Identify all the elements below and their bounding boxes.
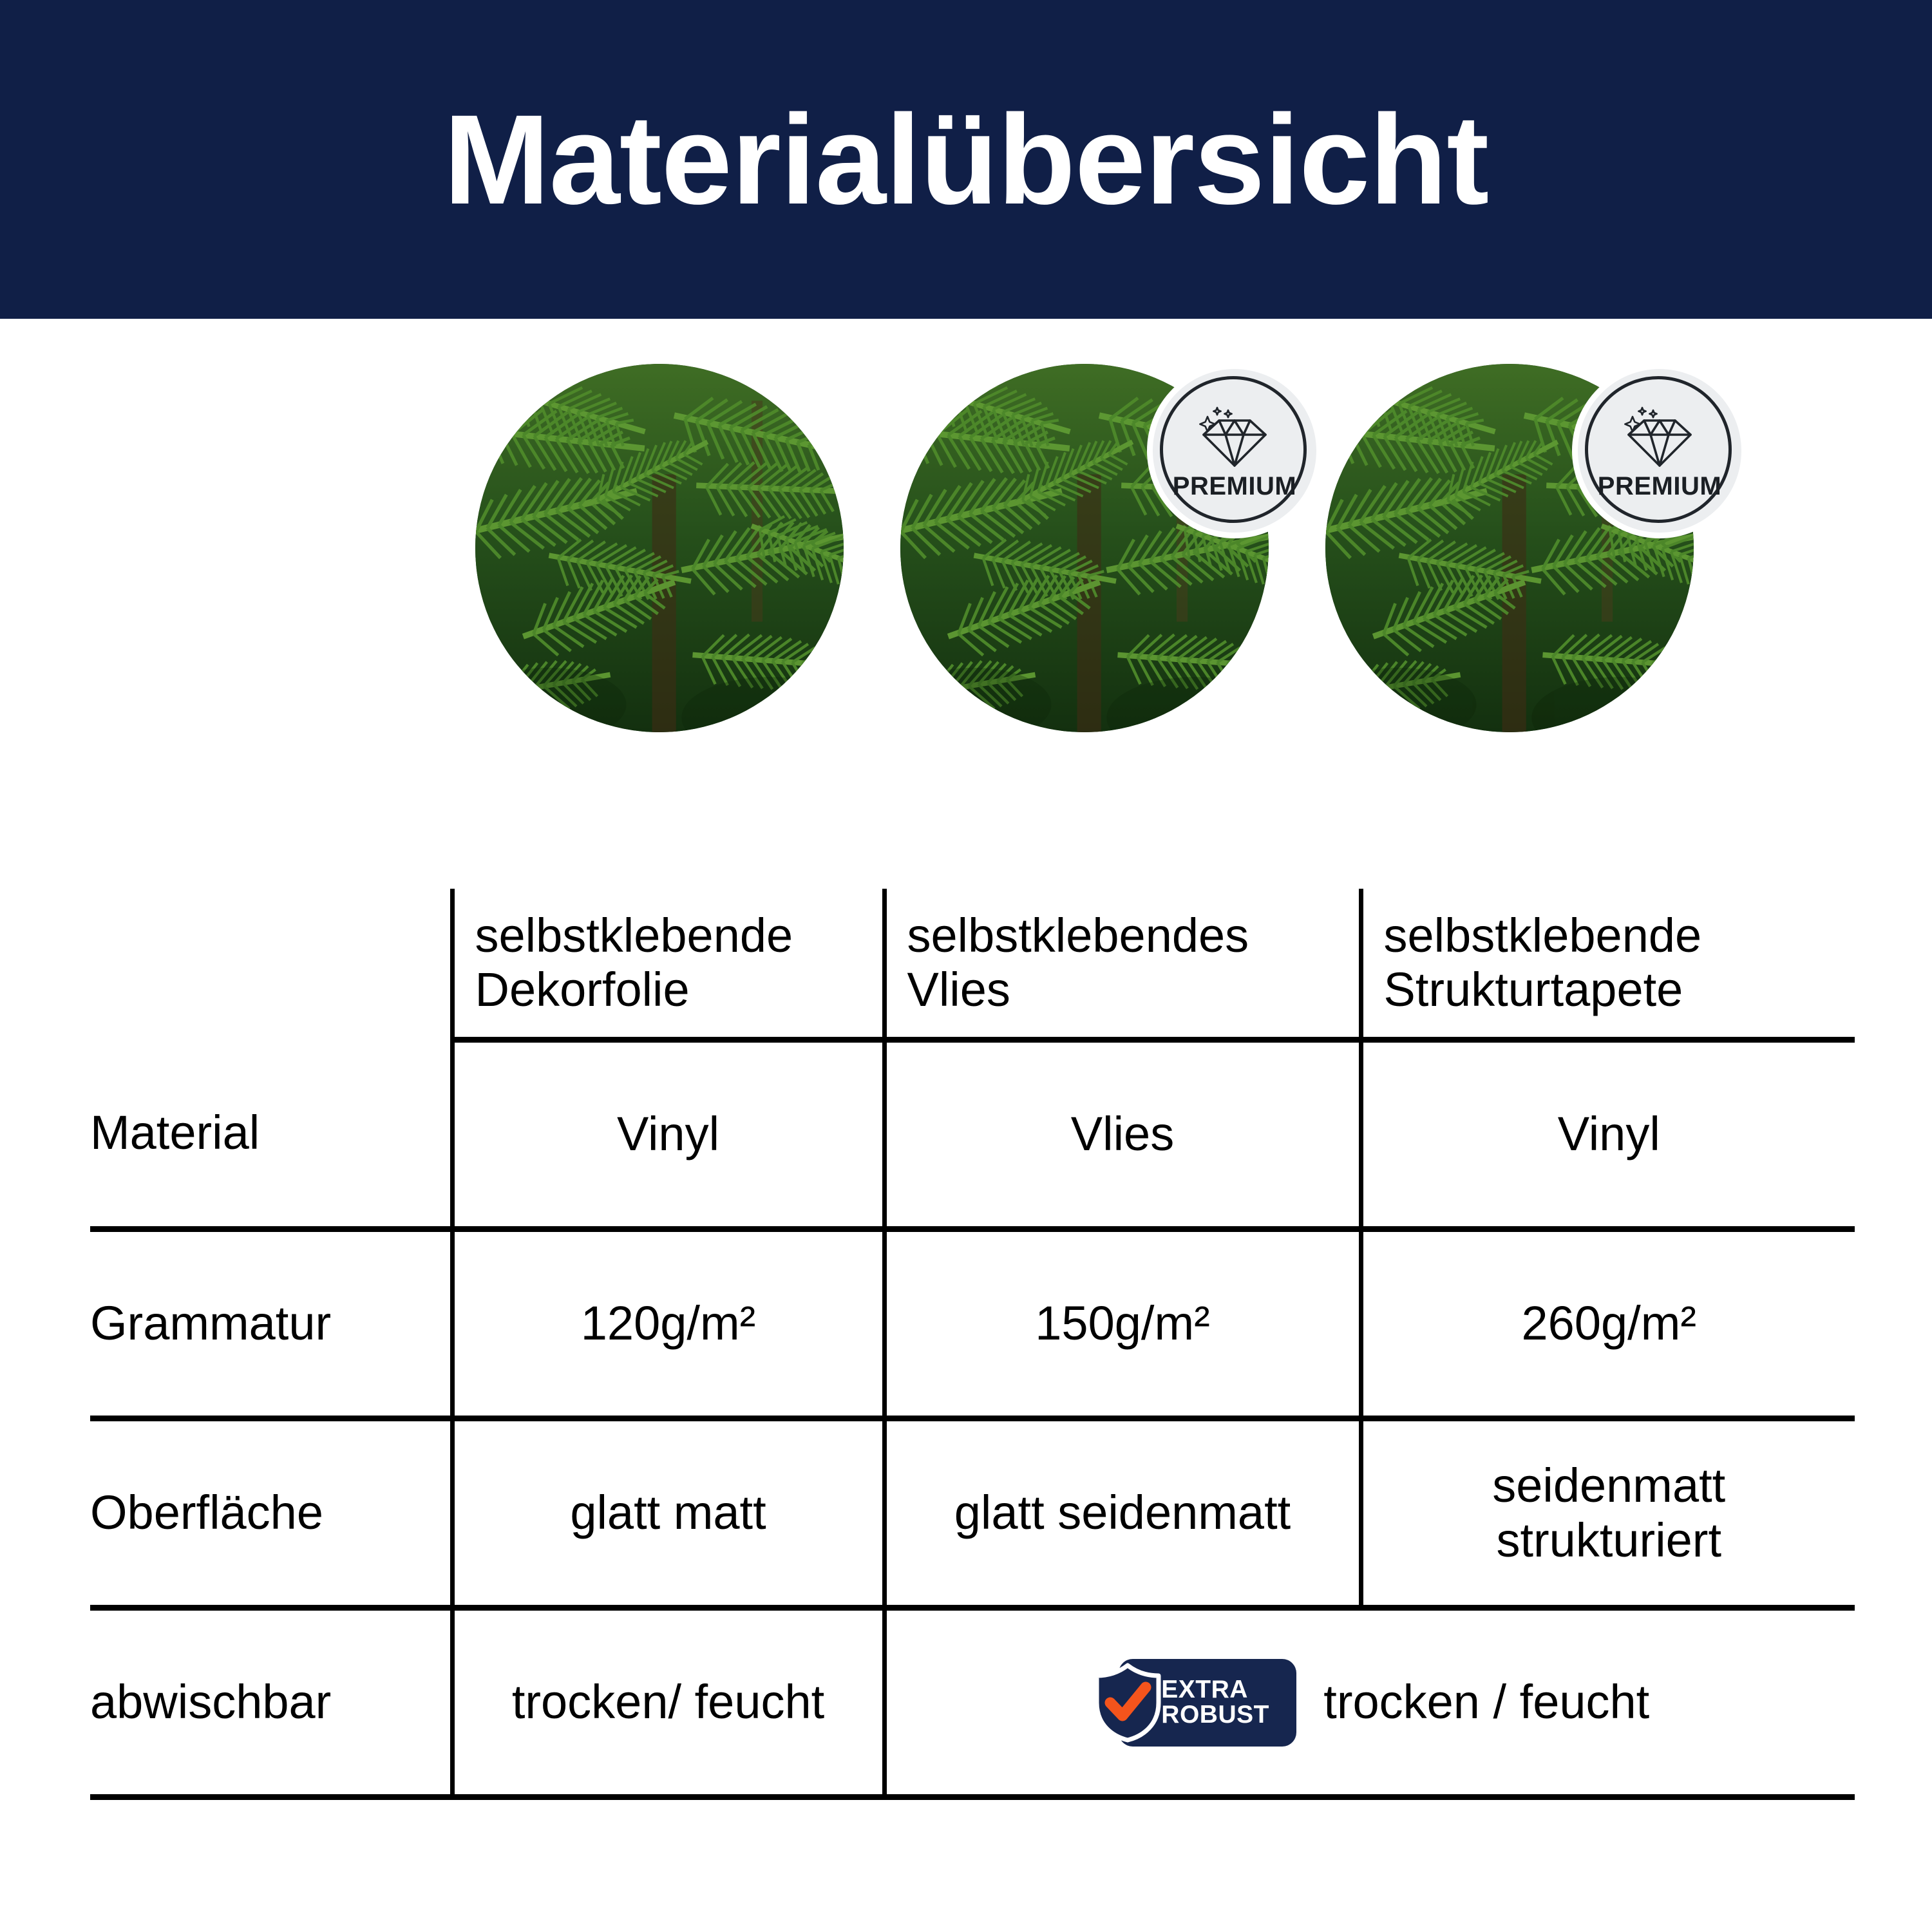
premium-badge-label: PREMIUM [1598, 473, 1721, 499]
swatch-dekorfolie[interactable] [475, 364, 844, 732]
jungle-image [475, 364, 844, 732]
row-label-abwischbar: abwischbar [90, 1608, 452, 1797]
swatch-strukturtapete[interactable]: PREMIUM [1325, 364, 1694, 732]
page-title: Materialübersicht [444, 96, 1489, 223]
swatch-vlies[interactable]: PREMIUM [900, 364, 1269, 732]
table-header-row: selbstklebende Dekorfolie selbstklebende… [90, 889, 1855, 1040]
table-row: Oberfläche glatt matt glatt seidenmatt s… [90, 1419, 1855, 1608]
shield-check-icon [1092, 1663, 1164, 1743]
premium-badge: PREMIUM [1578, 369, 1741, 533]
cell-abwischbar-text: trocken / feucht [1323, 1675, 1649, 1729]
cell-material-vlies: Vlies [884, 1040, 1361, 1229]
page-header: Materialübersicht [0, 0, 1932, 319]
cell-oberflaeche-dekorfolie: glatt matt [452, 1419, 884, 1608]
table-row: Material Vinyl Vlies Vinyl [90, 1040, 1855, 1229]
material-swatch-row: PREMIUM [0, 361, 1932, 741]
row-label-material: Material [90, 1040, 452, 1229]
premium-badge: PREMIUM [1153, 369, 1316, 533]
cell-oberflaeche-vlies: glatt seidenmatt [884, 1419, 1361, 1608]
cell-grammatur-dekorfolie: 120g/m² [452, 1229, 884, 1419]
material-spec-table: selbstklebende Dekorfolie selbstklebende… [90, 889, 1855, 1800]
cell-oberflaeche-strukturtapete: seidenmatt strukturiert [1361, 1419, 1855, 1608]
extra-robust-line1: EXTRA [1161, 1677, 1269, 1703]
header-cell-strukturtapete: selbstklebende Strukturtapete [1361, 889, 1855, 1040]
extra-robust-label: EXTRA ROBUST [1161, 1677, 1269, 1728]
diamond-icon [1620, 406, 1700, 468]
diamond-icon [1195, 406, 1274, 468]
extra-robust-line2: ROBUST [1161, 1703, 1269, 1728]
cell-material-dekorfolie: Vinyl [452, 1040, 884, 1229]
header-cell-vlies: selbstklebendes Vlies [884, 889, 1361, 1040]
material-spec-table-wrap: selbstklebende Dekorfolie selbstklebende… [90, 889, 1855, 1803]
row-label-oberflaeche: Oberfläche [90, 1419, 452, 1608]
cell-abwischbar-dekorfolie: trocken/ feucht [452, 1608, 884, 1797]
row-label-grammatur: Grammatur [90, 1229, 452, 1419]
cell-material-strukturtapete: Vinyl [1361, 1040, 1855, 1229]
premium-badge-label: PREMIUM [1173, 473, 1296, 499]
header-cell-dekorfolie: selbstklebende Dekorfolie [452, 889, 884, 1040]
table-row: abwischbar trocken/ feucht EXTRA [90, 1608, 1855, 1797]
cell-grammatur-strukturtapete: 260g/m² [1361, 1229, 1855, 1419]
cell-grammatur-vlies: 150g/m² [884, 1229, 1361, 1419]
header-cell-blank [90, 889, 452, 1040]
extra-robust-badge: EXTRA ROBUST [1092, 1659, 1296, 1747]
table-row: Grammatur 120g/m² 150g/m² 260g/m² [90, 1229, 1855, 1419]
cell-abwischbar-merged: EXTRA ROBUST trocken / feucht [884, 1608, 1855, 1797]
